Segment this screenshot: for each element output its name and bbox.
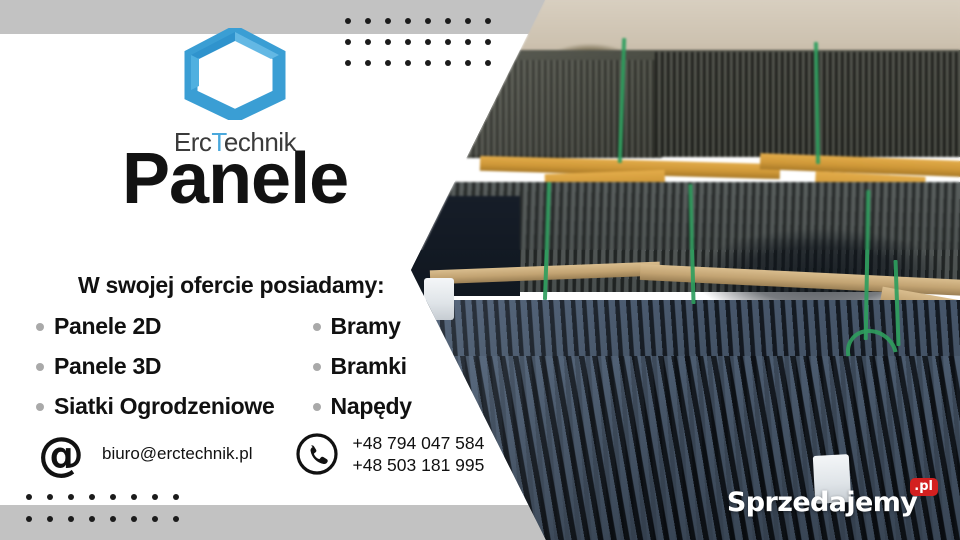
phone-icon	[295, 432, 339, 476]
dot	[465, 60, 471, 66]
dot	[152, 494, 158, 500]
dot	[365, 39, 371, 45]
offer-item-label: Panele 2D	[54, 313, 161, 340]
dot	[385, 18, 391, 24]
dot	[26, 516, 32, 522]
watermark-text: Sprzedajemy	[727, 487, 917, 518]
bullet-icon	[36, 403, 44, 411]
dot	[89, 494, 95, 500]
email-address: biuro@erctechnik.pl	[102, 444, 253, 464]
offer-subtitle: W swojej ofercie posiadamy:	[78, 272, 384, 299]
dot	[26, 494, 32, 500]
hexagon-ring-logo-icon	[183, 28, 287, 120]
offer-item-label: Panele 3D	[54, 353, 161, 380]
bullet-icon	[36, 363, 44, 371]
left-content-panel: ErcTechnik Panele W swojej ofercie posia…	[0, 0, 560, 540]
dot	[425, 60, 431, 66]
dot	[173, 494, 179, 500]
dot	[425, 39, 431, 45]
dot	[131, 516, 137, 522]
page-title: Panele	[122, 143, 348, 215]
list-item: Napędy	[313, 393, 412, 420]
offer-item-label: Bramki	[331, 353, 407, 380]
dot	[405, 18, 411, 24]
contact-bar: @ biuro@erctechnik.pl +48 794 047 584 +4…	[38, 432, 484, 477]
contact-email[interactable]: @ biuro@erctechnik.pl	[38, 434, 253, 474]
dot	[405, 39, 411, 45]
dot	[345, 18, 351, 24]
bullet-icon	[313, 323, 321, 331]
bullet-icon	[313, 363, 321, 371]
phone-number: +48 794 047 584	[353, 432, 485, 454]
dot	[345, 39, 351, 45]
dot	[47, 494, 53, 500]
poster-banner: Sprzedajemy .pl ErcTechnik Panele W swoj…	[0, 0, 960, 540]
dot	[485, 60, 491, 66]
dot	[385, 39, 391, 45]
dot	[365, 60, 371, 66]
dot	[385, 60, 391, 66]
dot	[465, 39, 471, 45]
offer-item-label: Siatki Ogrodzeniowe	[54, 393, 275, 420]
offer-item-label: Napędy	[331, 393, 412, 420]
dot	[152, 516, 158, 522]
offer-item-label: Bramy	[331, 313, 401, 340]
dot	[465, 18, 471, 24]
dot	[345, 60, 351, 66]
offer-column-right: Bramy Bramki Napędy	[301, 313, 412, 420]
dot	[445, 39, 451, 45]
phone-number: +48 503 181 995	[353, 454, 485, 476]
dot	[405, 60, 411, 66]
dot	[110, 494, 116, 500]
bullet-icon	[36, 323, 44, 331]
list-item: Panele 3D	[36, 353, 275, 380]
dot	[68, 494, 74, 500]
dot	[131, 494, 137, 500]
dot	[110, 516, 116, 522]
dot	[425, 18, 431, 24]
contact-phone[interactable]: +48 794 047 584 +48 503 181 995	[295, 432, 485, 477]
offer-column-left: Panele 2D Panele 3D Siatki Ogrodzeniowe	[36, 313, 275, 420]
dot	[445, 18, 451, 24]
at-icon: @	[38, 434, 84, 474]
dot	[173, 516, 179, 522]
offer-list: Panele 2D Panele 3D Siatki Ogrodzeniowe …	[36, 313, 456, 420]
list-item: Bramy	[313, 313, 412, 340]
dot-grid-top	[345, 18, 505, 81]
bullet-icon	[313, 403, 321, 411]
watermark-tld-badge: .pl	[910, 478, 938, 496]
dot-grid-bottom	[26, 494, 194, 538]
dot	[47, 516, 53, 522]
dot	[68, 516, 74, 522]
watermark: Sprzedajemy .pl	[727, 487, 938, 518]
dot	[485, 18, 491, 24]
list-item: Siatki Ogrodzeniowe	[36, 393, 275, 420]
dot	[89, 516, 95, 522]
dot	[365, 18, 371, 24]
dot	[485, 39, 491, 45]
list-item: Panele 2D	[36, 313, 275, 340]
list-item: Bramki	[313, 353, 412, 380]
dot	[445, 60, 451, 66]
phone-numbers: +48 794 047 584 +48 503 181 995	[353, 432, 485, 477]
